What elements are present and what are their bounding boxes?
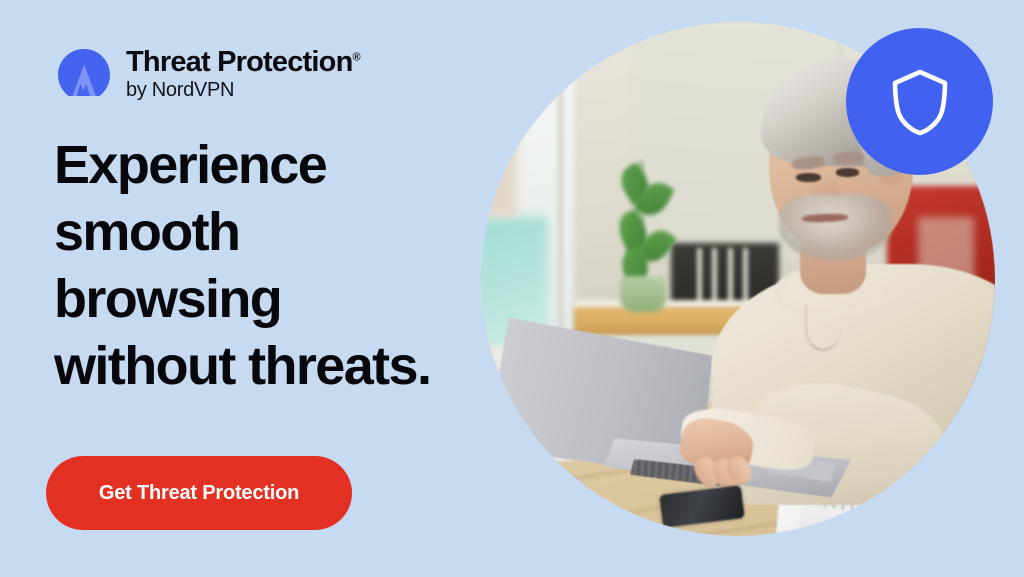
page-title: Experience smooth browsing without threa… xyxy=(54,132,484,400)
beard xyxy=(779,194,892,261)
shield-badge xyxy=(846,28,993,175)
headline-line-1: Experience xyxy=(54,132,484,199)
brand-logo-text: Threat Protection® by NordVPN xyxy=(126,45,361,103)
threat-protection-ad-banner: Threat Protection® by NordVPN Experience… xyxy=(0,0,1024,577)
shield-icon xyxy=(889,68,951,136)
brand-title: Threat Protection® xyxy=(126,47,361,77)
brand-logo-lockup: Threat Protection® by NordVPN xyxy=(56,45,361,103)
nordvpn-mountain-logo-icon xyxy=(56,47,112,103)
eye-right xyxy=(836,168,860,177)
headline-line-4: without threats. xyxy=(54,333,484,400)
necklace xyxy=(805,305,841,351)
brand-title-label: Threat Protection xyxy=(126,46,353,78)
headline-line-3: browsing xyxy=(54,266,484,333)
cta-label: Get Threat Protection xyxy=(99,482,299,505)
eyebrow-right xyxy=(833,151,864,164)
registered-trademark-mark: ® xyxy=(353,51,361,63)
headline-line-2: smooth xyxy=(54,199,484,266)
brand-subtitle: by NordVPN xyxy=(126,78,361,103)
banner-content-column: Threat Protection® by NordVPN Experience… xyxy=(0,0,500,577)
get-threat-protection-button[interactable]: Get Threat Protection xyxy=(46,456,352,530)
